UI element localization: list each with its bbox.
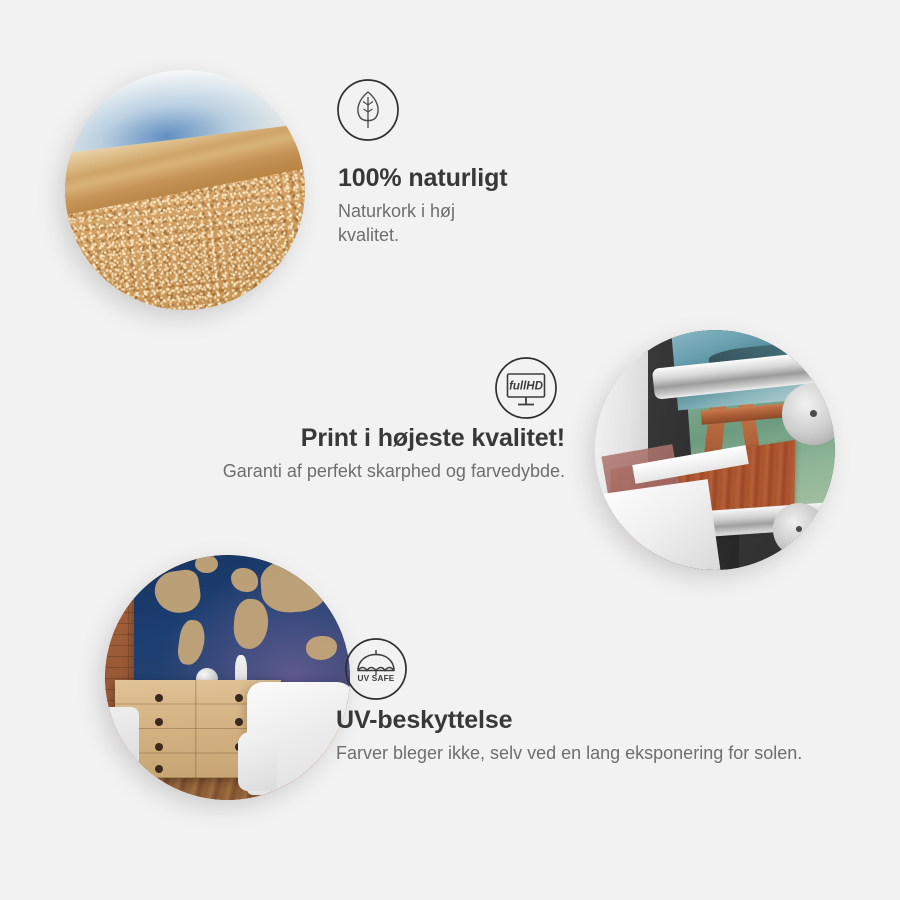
uv-headline: UV-beskyttelse [336, 705, 806, 735]
dresser-knob [155, 765, 163, 773]
armchair-left-edge [105, 707, 139, 785]
dresser-knob [235, 718, 243, 726]
natural-subline: Naturkork i høj kvalitet. [338, 199, 507, 248]
uv-text-block: UV-beskyttelse Farver bleger ikke, selv … [336, 705, 806, 765]
print-subline: Garanti af perfekt skarphed og farvedybd… [140, 459, 565, 483]
continent-australia [306, 636, 338, 660]
uv-subline: Farver bleger ikke, selv ved en lang eks… [336, 741, 806, 765]
natural-text-block: 100% naturligt Naturkork i høj kvalitet. [338, 163, 507, 248]
printer-wheel-right [782, 383, 835, 445]
uv-safe-umbrella-icon: UV SAFE [344, 637, 408, 701]
printer-photo-inner [595, 330, 835, 570]
natural-headline: 100% naturligt [338, 163, 507, 193]
continent-europe [231, 568, 258, 592]
continent-africa [232, 597, 269, 649]
cork-photo-circle [65, 70, 305, 310]
continent-asia [259, 557, 330, 613]
uv-safe-icon-label: UV SAFE [358, 674, 395, 683]
printer-wheel-bottom-right [773, 503, 826, 556]
dresser-knob [155, 718, 163, 726]
fullhd-monitor-icon: fullHD [494, 356, 558, 420]
leaf-icon [336, 78, 400, 142]
dresser-knob [155, 743, 163, 751]
armchair-arm [238, 732, 277, 791]
printer-photo-circle [595, 330, 835, 570]
feature-panel: 100% naturligt Naturkork i høj kvalitet. [0, 0, 900, 900]
fullhd-icon-label: fullHD [509, 380, 543, 392]
continent-greenland [195, 555, 218, 573]
dresser-knob [155, 694, 163, 702]
room-photo-inner [105, 555, 350, 800]
room-photo-circle [105, 555, 350, 800]
dresser-knob [235, 694, 243, 702]
continent-north-america [152, 568, 202, 616]
print-text-block: Print i højeste kvalitet! Garanti af per… [140, 423, 565, 483]
continent-south-america [176, 618, 207, 666]
white-armchair [247, 682, 350, 795]
print-headline: Print i højeste kvalitet! [140, 423, 565, 453]
cork-photo-inner [65, 70, 305, 310]
printer-white-flap [595, 480, 721, 570]
